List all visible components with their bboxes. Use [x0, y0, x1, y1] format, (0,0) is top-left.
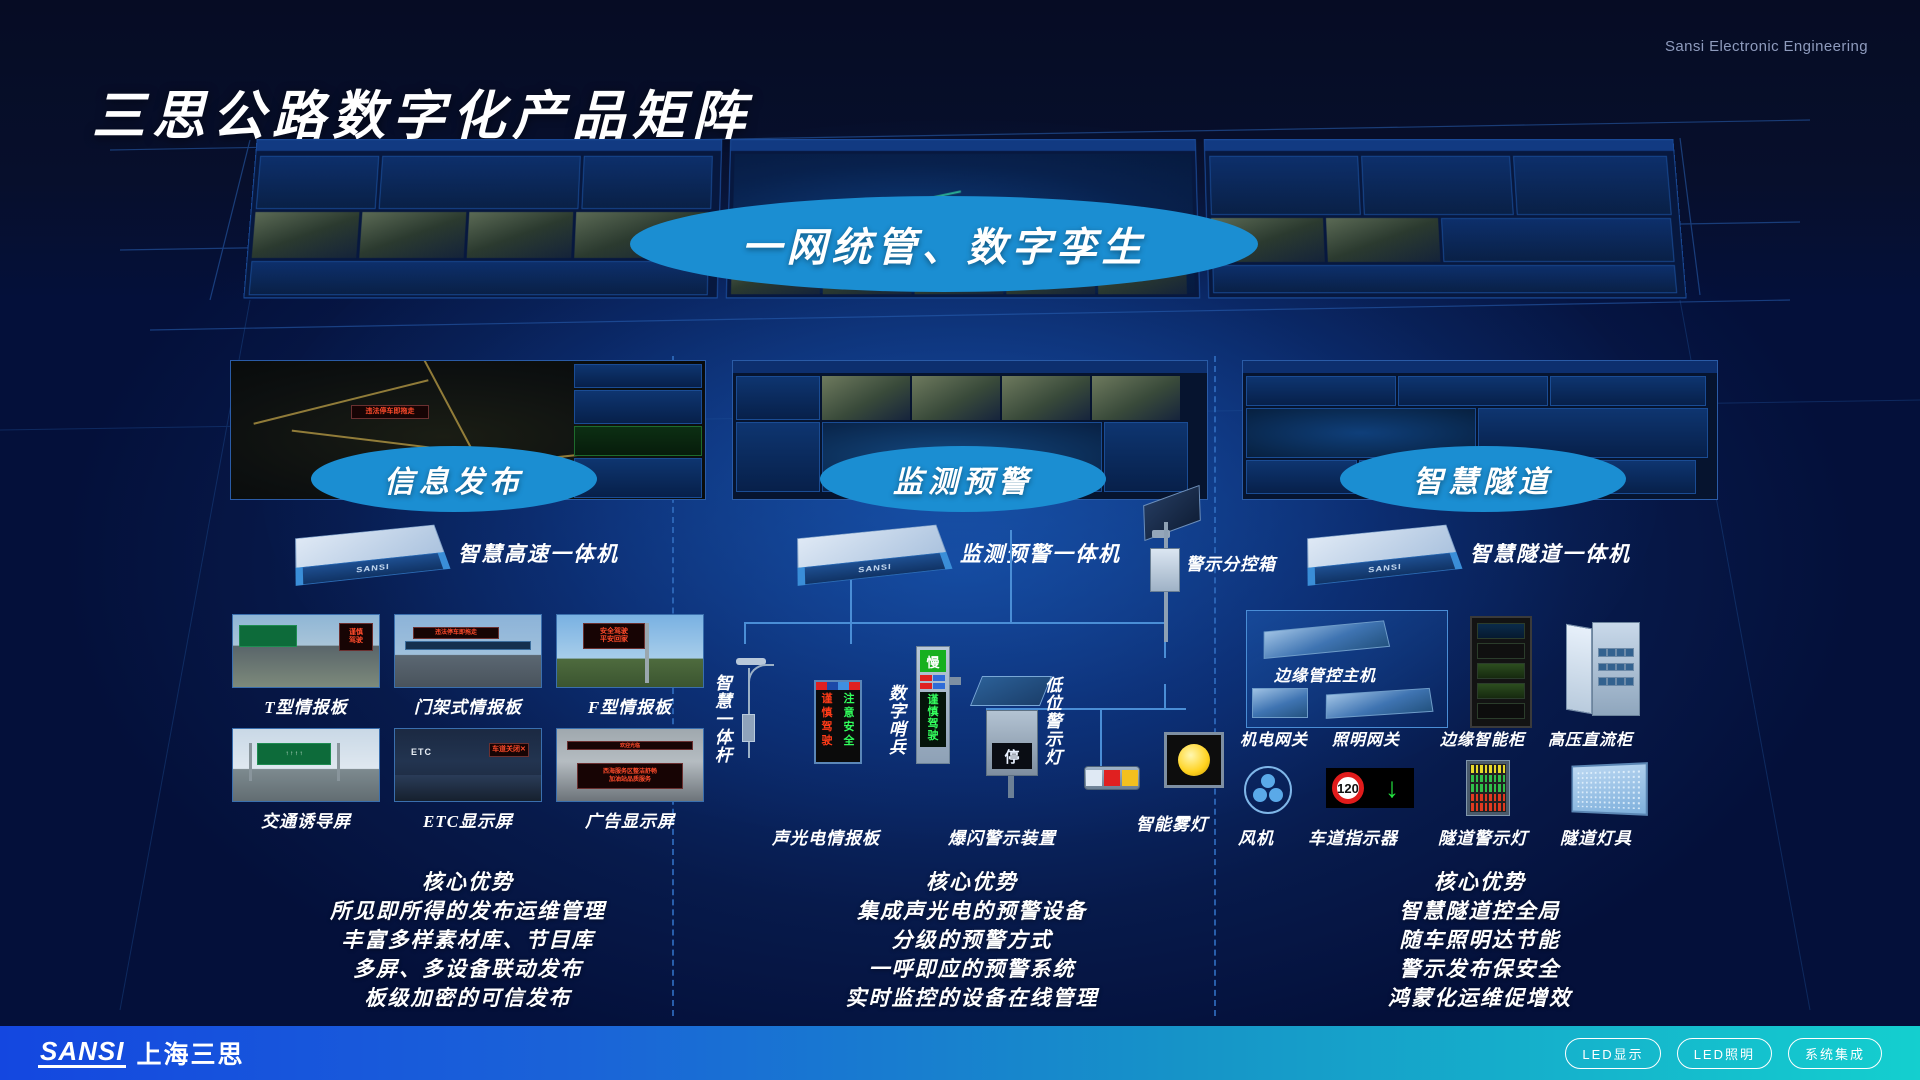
hv-dc-cabinet-icon [1566, 622, 1640, 716]
device-label-lane-indicator: 车道指示器 [1308, 824, 1398, 849]
hero-banner-ellipse: 一网统管、数字孪生 [630, 196, 1258, 292]
server-logo-text: SANSI [858, 563, 893, 575]
column3-advantages: 核心优势 智慧隧道控全局 随车照明达节能 警示发布保安全 鸿蒙化运维促增效 [1230, 868, 1730, 1013]
column3-appliance: SANSI 智慧隧道一体机 [1308, 522, 1730, 584]
strobe-sign-text: 停 [992, 743, 1032, 769]
product-card: 违法停车即拖走 门架式情报板 [394, 614, 542, 718]
fan-icon [1244, 766, 1292, 814]
column1-advantages: 核心优势 所见即所得的发布运维管理 丰富多样素材库、节目库 多屏、多设备联动发布… [218, 868, 718, 1013]
green-arrow-icon: ↓ [1370, 768, 1414, 808]
footer-brand: SANSI 上海三思 [38, 1035, 244, 1071]
column-monitor-warning: 监测预警 SANSI 监测预警一体机 [720, 356, 1220, 888]
device-label-hv-dc-cabinet: 高压直流柜 [1548, 726, 1633, 750]
product-label: T型情报板 [232, 693, 380, 718]
advantage-item: 鸿蒙化运维促增效 [1230, 984, 1730, 1013]
speed-limit-value: 120 [1332, 772, 1364, 804]
tree-connector [850, 622, 852, 644]
advantage-item: 实时监控的设备在线管理 [722, 984, 1222, 1013]
advantage-item: 集成声光电的预警设备 [722, 897, 1222, 926]
badge-led-lighting[interactable]: LED照明 [1677, 1038, 1772, 1069]
advantage-item: 多屏、多设备联动发布 [218, 955, 718, 984]
device-label-smart-fog-lamp: 智能雾灯 [1136, 810, 1208, 835]
server-icon: SANSI [797, 525, 952, 586]
product-thumb-t-board: 谨慎驾驶 [232, 614, 380, 688]
column1-title-ellipse: 信息发布 [311, 446, 597, 512]
column2-advantages: 核心优势 集成声光电的预警设备 分级的预警方式 一呼即应的预警系统 实时监控的设… [722, 868, 1222, 1013]
device-label-digital-sentry: 数字哨兵 [886, 684, 904, 756]
column-info-release: 违法停车即拖走 信息发布 SANSI 智慧高速一体机 谨慎驾驶 T型情报板 违法… [218, 356, 718, 832]
column-smart-tunnel: 智慧隧道 SANSI 智慧隧道一体机 边缘管控主机 [1230, 356, 1730, 858]
product-card: 安全驾驶平安回家 F型情报板 [556, 614, 704, 718]
badge-led-display[interactable]: LED显示 [1565, 1038, 1660, 1069]
device-label-mechanical-gateway: 机电网关 [1240, 726, 1308, 750]
product-card: ETC 车道关闭✕ ETC显示屏 [394, 728, 542, 832]
product-card: 欢迎光临 西海服务区整洁舒畅加油站品质服务 广告显示屏 [556, 728, 704, 832]
product-thumb-f-board: 安全驾驶平安回家 [556, 614, 704, 688]
sansi-logo-cn: 上海三思 [136, 1035, 244, 1071]
device-label-strobe-warning: 爆闪警示装置 [948, 824, 1056, 849]
advantage-item: 一呼即应的预警系统 [722, 955, 1222, 984]
device-label-low-position-warning-light: 低位警示灯 [1042, 676, 1060, 766]
sentry-top-char: 慢 [920, 650, 946, 672]
tree-connector [850, 580, 852, 622]
device-strobe-warning: 停 [976, 676, 1046, 776]
server-icon: SANSI [295, 525, 450, 586]
column3-title-ellipse: 智慧隧道 [1340, 446, 1626, 512]
tunnel-luminaire-icon [1571, 762, 1647, 816]
advantages-heading: 核心优势 [722, 868, 1222, 897]
device-smart-pole [726, 640, 780, 760]
device-label-lighting-gateway: 照明网关 [1332, 726, 1400, 750]
footer-badges: LED显示 LED照明 系统集成 [1565, 1038, 1882, 1069]
advantages-heading: 核心优势 [1230, 868, 1730, 897]
sansi-logo-text: SANSI [38, 1038, 126, 1068]
product-label: 门架式情报板 [394, 693, 542, 718]
device-low-position-warning-light [1084, 766, 1140, 790]
column3-device-band-bottom: 120 ↓ 风机 车道指示器 隧道警示灯 隧道灯具 [1230, 758, 1730, 858]
column3-appliance-label: 智慧隧道一体机 [1470, 538, 1631, 568]
column2-title-ellipse: 监测预警 [820, 446, 1106, 512]
product-thumb-traffic-guidance: ↑ ↑ ↑ ↑ [232, 728, 380, 802]
vms-text-left: 谨慎驾驶 [816, 690, 838, 750]
product-thumb-gantry-board: 违法停车即拖走 [394, 614, 542, 688]
tree-connector [1100, 708, 1102, 770]
server-logo-text: SANSI [1368, 563, 1403, 575]
device-label-av-vms-board: 声光电情报板 [772, 824, 880, 849]
server-icon: SANSI [1307, 525, 1462, 586]
product-card: ↑ ↑ ↑ ↑ 交通诱导屏 [232, 728, 380, 832]
column1-appliance-label: 智慧高速一体机 [458, 538, 619, 568]
advantage-item: 随车照明达节能 [1230, 926, 1730, 955]
device-label-tunnel-luminaire: 隧道灯具 [1560, 824, 1632, 849]
device-av-vms-board: 谨慎驾驶 注意安全 [814, 680, 862, 764]
device-label-tunnel-warning-light: 隧道警示灯 [1438, 824, 1528, 849]
tree-connector [1164, 684, 1166, 708]
column2-appliance-label: 监测预警一体机 [960, 538, 1121, 568]
column2-device-tree: 智慧一体杆 谨慎驾驶 注意安全 声光电情报板 慢 谨慎驾驶 数字 [720, 588, 1220, 888]
vms-text-right: 注意安全 [838, 690, 860, 750]
device-label-edge-host: 边缘管控主机 [1274, 662, 1376, 686]
lane-indicator-icon: 120 ↓ [1326, 768, 1414, 808]
product-card: 谨慎驾驶 T型情报板 [232, 614, 380, 718]
column1-product-grid: 谨慎驾驶 T型情报板 违法停车即拖走 门架式情报板 安全驾驶平安回家 F型情报板 [218, 614, 718, 832]
device-label-edge-smart-cabinet: 边缘智能柜 [1440, 726, 1525, 750]
product-label: F型情报板 [556, 693, 704, 718]
column3-device-band-top: 边缘管控主机 机电网关 照明网关 边缘智能柜 [1230, 610, 1730, 740]
device-smart-fog-lamp [1164, 732, 1224, 788]
tunnel-warning-light-icon [1466, 760, 1510, 816]
brand-top-label: Sansi Electronic Engineering [1665, 38, 1868, 55]
product-label: 广告显示屏 [556, 807, 704, 832]
tree-connector [1010, 530, 1012, 622]
mechanical-gateway-icon [1252, 688, 1308, 718]
slide-root: Sansi Electronic Engineering 三思公路数字化产品矩阵 [0, 0, 1920, 1080]
advantage-item: 丰富多样素材库、节目库 [218, 926, 718, 955]
advantage-item: 智慧隧道控全局 [1230, 897, 1730, 926]
advantage-item: 板级加密的可信发布 [218, 984, 718, 1013]
server-logo-text: SANSI [356, 563, 391, 575]
product-label: 交通诱导屏 [232, 807, 380, 832]
sentry-body-text: 谨慎驾驶 [920, 692, 946, 747]
product-label: ETC显示屏 [394, 807, 542, 832]
advantages-heading: 核心优势 [218, 868, 718, 897]
device-warning-control-box [1132, 496, 1218, 656]
dashboard-panel-right [1204, 139, 1687, 298]
device-label-fan: 风机 [1238, 824, 1274, 849]
badge-system-integration[interactable]: 系统集成 [1788, 1038, 1882, 1069]
footer-bar: SANSI 上海三思 LED显示 LED照明 系统集成 [0, 1026, 1920, 1080]
advantage-item: 警示发布保安全 [1230, 955, 1730, 984]
tree-connector [744, 622, 1164, 624]
device-digital-sentry: 慢 谨慎驾驶 [916, 646, 950, 764]
dashboard-panel-left [243, 139, 722, 298]
advantage-item: 所见即所得的发布运维管理 [218, 897, 718, 926]
device-label-smart-pole: 智慧一体杆 [712, 674, 730, 764]
edge-smart-cabinet-icon [1470, 616, 1532, 728]
product-thumb-ad-display: 欢迎光临 西海服务区整洁舒畅加油站品质服务 [556, 728, 704, 802]
product-thumb-etc-display: ETC 车道关闭✕ [394, 728, 542, 802]
column1-appliance: SANSI 智慧高速一体机 [296, 522, 718, 584]
advantage-item: 分级的预警方式 [722, 926, 1222, 955]
